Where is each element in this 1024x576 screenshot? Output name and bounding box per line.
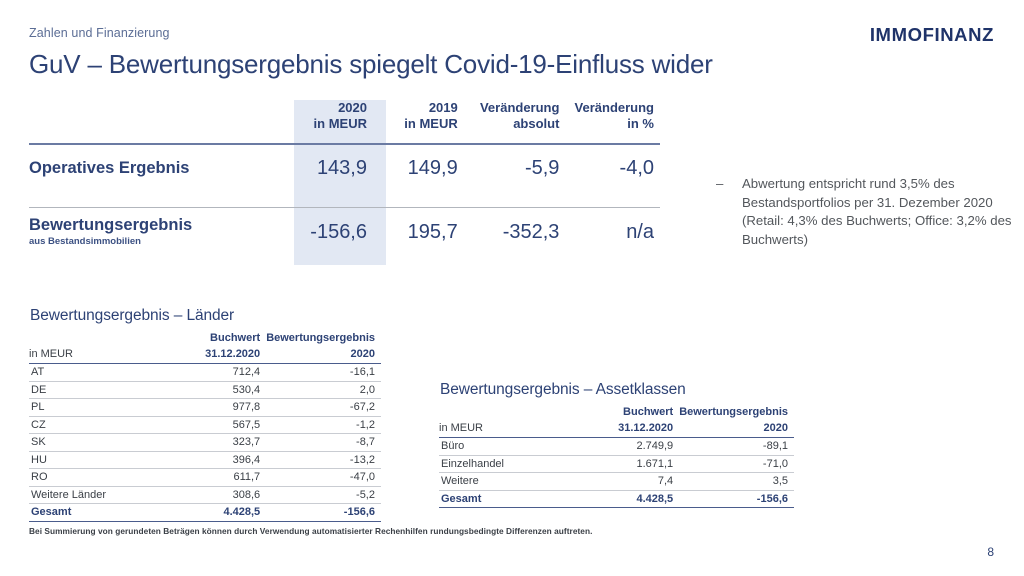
laender-row-bewertung: -67,2 [266,399,381,417]
laender-col-bewertung-line2: 2020 [266,347,381,364]
laender-table: Buchwert Bewertungsergebnis in MEUR 31.1… [29,331,381,522]
laender-total-buchwert: 4.428,5 [163,504,266,522]
eyebrow-label: Zahlen und Finanzierung [29,26,170,40]
cell-bewertung-change-absolute: -352,3 [466,200,566,264]
laender-col-buchwert-line2: 31.12.2020 [163,347,266,364]
laender-row-name: Weitere Länder [29,486,163,504]
table-header-row: 2020 in MEUR 2019 in MEUR Veränderung ab… [29,100,660,136]
col-header-change-absolute: Veränderung absolut [466,100,566,136]
table-row: PL 977,8 -67,2 [29,399,381,417]
laender-total-name: Gesamt [29,504,163,522]
cell-bewertung-2020: -156,6 [280,200,375,264]
table-header-row: Buchwert Bewertungsergebnis [439,405,794,421]
col-header-2019-line1: 2019 [429,100,458,115]
table-header-row: in MEUR 31.12.2020 2020 [29,347,381,364]
table-total-row: Gesamt 4.428,5 -156,6 [29,504,381,522]
laender-row-bewertung: -13,2 [266,451,381,469]
laender-row-name: PL [29,399,163,417]
laender-row-name: CZ [29,416,163,434]
cell-operatives-2020: 143,9 [280,136,375,200]
laender-row-buchwert: 977,8 [163,399,266,417]
asset-row-buchwert: 2.749,9 [584,438,680,456]
laender-row-buchwert: 530,4 [163,381,266,399]
asset-unit-label: in MEUR [439,421,584,438]
asset-col-bewertung-line1: Bewertungsergebnis [679,405,794,421]
laender-row-bewertung: -47,0 [266,469,381,487]
assetklassen-table-body: Büro 2.749,9 -89,1 Einzelhandel 1.671,1 … [439,438,794,508]
table-header-row: in MEUR 31.12.2020 2020 [439,421,794,438]
table-total-row: Gesamt 4.428,5 -156,6 [439,490,794,508]
table-row: HU 396,4 -13,2 [29,451,381,469]
col-header-2020: 2020 in MEUR [280,100,375,136]
asset-total-buchwert: 4.428,5 [584,490,680,508]
laender-col-buchwert-line1: Buchwert [163,331,266,347]
assetklassen-table-block: Bewertungsergebnis – Assetklassen Buchwe… [439,381,794,508]
col-header-change-absolute-line2: absolut [513,116,559,131]
laender-row-bewertung: 2,0 [266,381,381,399]
table-row: RO 611,7 -47,0 [29,469,381,487]
asset-row-buchwert: 1.671,1 [584,455,680,473]
cell-operatives-change-percent: -4,0 [565,136,660,200]
list-item: – Abwertung entspricht rund 3,5% des Bes… [712,175,1012,249]
col-header-change-percent: Veränderung in % [565,100,660,136]
asset-row-bewertung: -71,0 [679,455,794,473]
laender-row-bewertung: -8,7 [266,434,381,452]
asset-row-name: Einzelhandel [439,455,584,473]
list-item-text: Abwertung entspricht rund 3,5% des Besta… [742,176,1012,247]
cell-bewertung-2019: 195,7 [375,200,466,264]
page-title: GuV – Bewertungsergebnis spiegelt Covid-… [29,49,713,80]
page-number: 8 [987,545,994,559]
col-header-2020-line2: in MEUR [314,116,367,131]
row-label-operatives-ergebnis: Operatives Ergebnis [29,136,280,200]
laender-row-name: HU [29,451,163,469]
col-header-2019-line2: in MEUR [404,116,457,131]
laender-row-bewertung: -1,2 [266,416,381,434]
row-label-text: Bewertungsergebnis [29,216,192,234]
table-row: Bewertungsergebnis aus Bestandsimmobilie… [29,200,660,264]
slide: Zahlen und Finanzierung IMMOFINANZ GuV –… [0,0,1024,576]
table-row: Weitere Länder 308,6 -5,2 [29,486,381,504]
laender-total-bewertung: -156,6 [266,504,381,522]
asset-total-bewertung: -156,6 [679,490,794,508]
footnote-text: Bei Summierung von gerundeten Beträgen k… [29,526,592,536]
table-row: AT 712,4 -16,1 [29,364,381,382]
laender-col-spacer [29,331,163,347]
dash-bullet-icon: – [716,175,723,194]
table-row: CZ 567,5 -1,2 [29,416,381,434]
row-label-bewertungsergebnis: Bewertungsergebnis aus Bestandsimmobilie… [29,200,280,264]
laender-row-bewertung: -5,2 [266,486,381,504]
col-header-2019: 2019 in MEUR [375,100,466,136]
col-header-change-percent-line1: Veränderung [575,100,654,115]
table-row: Weitere 7,4 3,5 [439,473,794,491]
guv-main-table: 2020 in MEUR 2019 in MEUR Veränderung ab… [29,100,660,264]
asset-row-buchwert: 7,4 [584,473,680,491]
laender-row-name: RO [29,469,163,487]
asset-total-name: Gesamt [439,490,584,508]
cell-bewertung-change-percent: n/a [565,200,660,264]
asset-row-bewertung: 3,5 [679,473,794,491]
table-row: SK 323,7 -8,7 [29,434,381,452]
table-header-row: Buchwert Bewertungsergebnis [29,331,381,347]
cell-operatives-2019: 149,9 [375,136,466,200]
laender-row-buchwert: 396,4 [163,451,266,469]
laender-row-buchwert: 567,5 [163,416,266,434]
asset-row-name: Büro [439,438,584,456]
laender-row-buchwert: 323,7 [163,434,266,452]
laender-unit-label: in MEUR [29,347,163,364]
cell-operatives-change-absolute: -5,9 [466,136,566,200]
col-header-label [29,100,280,136]
laender-row-bewertung: -16,1 [266,364,381,382]
laender-row-name: AT [29,364,163,382]
table-row: Büro 2.749,9 -89,1 [439,438,794,456]
laender-row-buchwert: 611,7 [163,469,266,487]
table-row: Einzelhandel 1.671,1 -71,0 [439,455,794,473]
row-label-text: Operatives Ergebnis [29,159,189,177]
laender-table-title: Bewertungsergebnis – Länder [30,307,381,325]
row-sublabel-text: aus Bestandsimmobilien [29,236,280,248]
col-header-2020-line1: 2020 [338,100,367,115]
assetklassen-table-title: Bewertungsergebnis – Assetklassen [440,381,794,399]
asset-row-name: Weitere [439,473,584,491]
asset-row-bewertung: -89,1 [679,438,794,456]
laender-table-block: Bewertungsergebnis – Länder Buchwert Bew… [29,307,381,522]
col-header-change-absolute-line1: Veränderung [480,100,559,115]
laender-row-name: DE [29,381,163,399]
asset-col-buchwert-line2: 31.12.2020 [584,421,680,438]
asset-col-bewertung-line2: 2020 [679,421,794,438]
commentary-list: – Abwertung entspricht rund 3,5% des Bes… [712,175,1012,249]
laender-row-buchwert: 308,6 [163,486,266,504]
laender-row-name: SK [29,434,163,452]
col-header-change-percent-line2: in % [627,116,654,131]
immofinanz-logo: IMMOFINANZ [870,24,994,46]
asset-col-spacer [439,405,584,421]
table-row: Operatives Ergebnis 143,9 149,9 -5,9 -4,… [29,136,660,200]
laender-col-bewertung-line1: Bewertungsergebnis [266,331,381,347]
assetklassen-table: Buchwert Bewertungsergebnis in MEUR 31.1… [439,405,794,508]
asset-col-buchwert-line1: Buchwert [584,405,680,421]
table-row: DE 530,4 2,0 [29,381,381,399]
laender-table-body: AT 712,4 -16,1 DE 530,4 2,0 PL 977,8 -67… [29,364,381,522]
laender-row-buchwert: 712,4 [163,364,266,382]
